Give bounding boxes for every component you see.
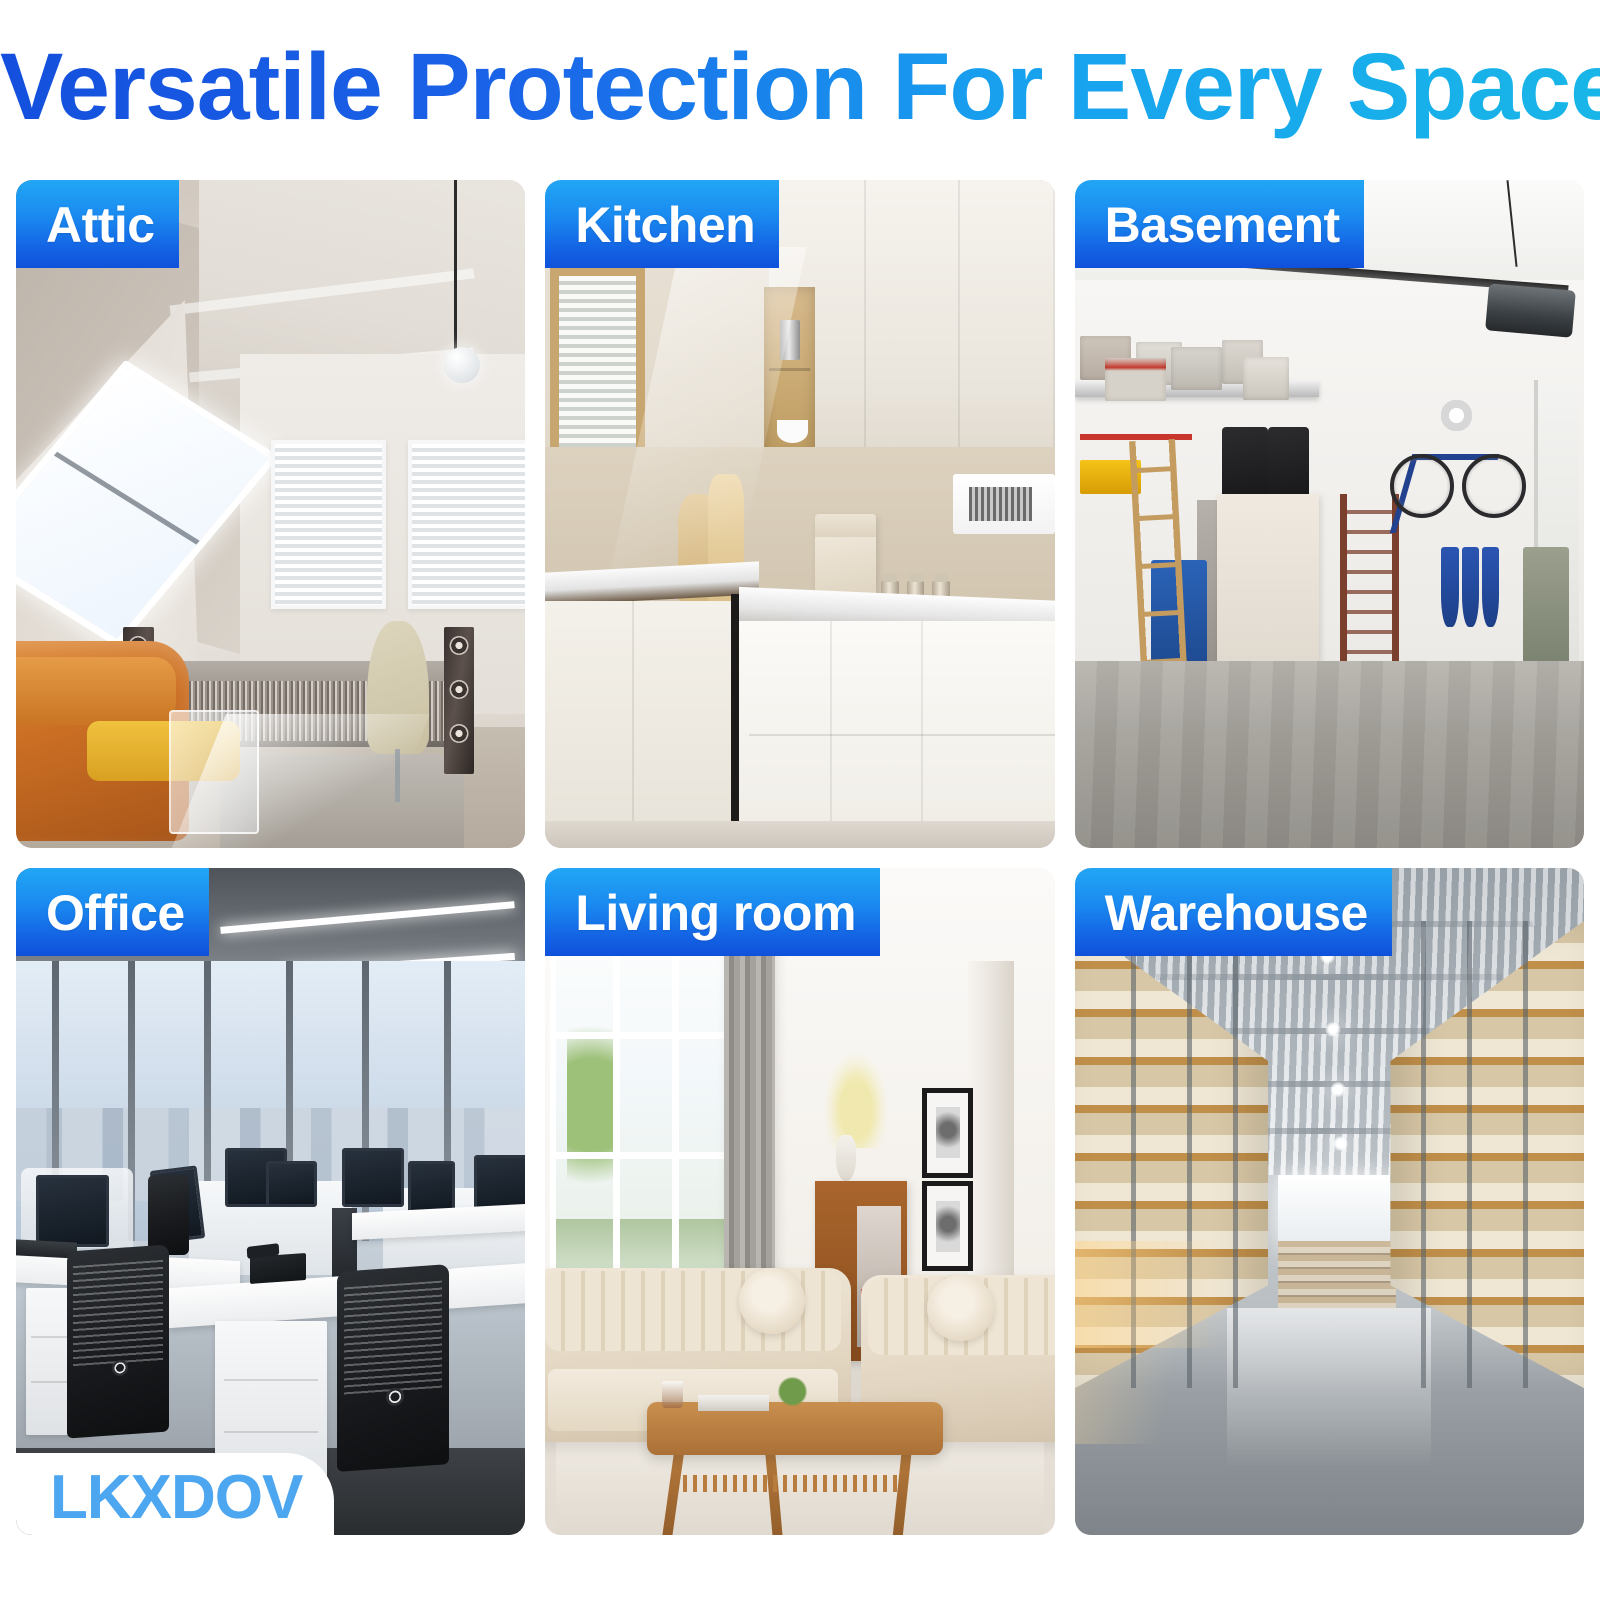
cell-label-basement: Basement <box>1075 180 1364 268</box>
warehouse-roof-beam <box>1156 974 1502 980</box>
office-monitor <box>36 1175 108 1248</box>
gallery-cell-warehouse[interactable]: Warehouse <box>1075 868 1584 1536</box>
living-room-window-mullion <box>613 920 620 1294</box>
warehouse-rack-upright <box>1233 921 1238 1388</box>
living-room-wall-art <box>922 1088 973 1178</box>
basement-concrete-floor <box>1075 661 1584 848</box>
attic-window-blind <box>271 440 386 608</box>
living-room-table-lower-shelf <box>683 1475 897 1492</box>
living-room-drinking-glass <box>662 1381 682 1408</box>
gallery-cell-office[interactable]: Office LKXDOV <box>16 868 525 1536</box>
warehouse-rack-upright <box>1467 921 1472 1388</box>
office-chair <box>67 1244 169 1438</box>
space-gallery-grid: Attic <box>16 180 1584 1535</box>
living-room-coffee-table <box>647 1402 942 1455</box>
basement-storage-bin <box>1105 358 1166 401</box>
basement-storage-bin <box>1243 357 1289 400</box>
basement-hanging-gear <box>1441 547 1458 627</box>
kitchen-scene <box>545 180 1054 848</box>
living-room-window-mullion <box>556 1152 739 1159</box>
basement-storage-bin <box>1171 347 1222 390</box>
attic-pendant-lamp <box>444 347 480 383</box>
cell-label-attic: Attic <box>16 180 179 268</box>
kitchen-bowl <box>777 420 808 443</box>
living-room-window-mullion <box>556 1032 739 1039</box>
living-room-round-pillow <box>927 1275 993 1341</box>
office-monitor <box>342 1148 404 1207</box>
gallery-cell-attic[interactable]: Attic <box>16 180 525 848</box>
cell-label-kitchen: Kitchen <box>545 180 779 268</box>
living-room-potted-plant <box>775 1375 811 1408</box>
kitchen-corner-post <box>731 594 739 848</box>
office-chair-adjust-knob <box>112 1359 128 1376</box>
warehouse-ceiling-light <box>1332 1135 1349 1152</box>
warehouse-scene <box>1075 868 1584 1536</box>
basement-hose-reel <box>1441 400 1472 431</box>
basement-step-stool <box>1523 547 1569 667</box>
living-room-wall-art <box>922 1181 973 1271</box>
living-room-window <box>550 914 745 1300</box>
basement-bicycle-wheel <box>1462 454 1526 518</box>
attic-pendant-wire <box>454 180 457 354</box>
warehouse-roof-beam <box>1243 1128 1416 1134</box>
warehouse-ceiling-light <box>1329 1081 1346 1098</box>
warehouse-rack-upright <box>1421 921 1426 1388</box>
office-chair-mesh-back <box>73 1260 163 1367</box>
living-room-table-books <box>698 1395 769 1411</box>
kitchen-range-hood <box>953 474 1055 534</box>
basement-hanging-gear <box>1462 547 1479 627</box>
basement-hanging-gear <box>1482 547 1499 627</box>
warehouse-aisle-glow <box>1075 1241 1228 1348</box>
living-room-curtain <box>724 894 775 1308</box>
office-chair-adjust-knob <box>386 1387 404 1406</box>
living-room-flower-arrangement <box>825 1054 886 1147</box>
office-chair <box>148 1175 189 1255</box>
kitchen-drawer-seam <box>749 734 1055 736</box>
office-scene <box>16 868 525 1536</box>
basement-wall-rail <box>1080 434 1192 440</box>
warehouse-back-window <box>1278 1175 1390 1248</box>
office-desk-phone <box>250 1253 306 1284</box>
basement-hand-truck <box>1340 494 1400 681</box>
attic-window-blind <box>408 440 525 608</box>
kitchen-floor <box>545 821 1054 848</box>
warehouse-ceiling-light <box>1324 1021 1341 1038</box>
cell-label-warehouse: Warehouse <box>1075 868 1392 956</box>
living-room-vase <box>836 1135 856 1182</box>
living-room-scene <box>545 868 1054 1536</box>
basement-garage-door-opener <box>1485 283 1575 337</box>
gallery-cell-kitchen[interactable]: Kitchen <box>545 180 1054 848</box>
warehouse-rack-upright <box>1523 921 1528 1388</box>
attic-scene <box>16 180 525 848</box>
attic-floor-speaker <box>444 627 475 774</box>
living-room-column <box>968 961 1014 1308</box>
office-chair-mesh-back <box>344 1281 443 1396</box>
office-monitor <box>266 1161 318 1207</box>
cell-label-living-room: Living room <box>545 868 880 956</box>
gallery-cell-living-room[interactable]: Living room <box>545 868 1054 1536</box>
brand-logo: LKXDOV <box>50 1467 302 1529</box>
living-room-round-pillow <box>739 1268 805 1334</box>
gallery-cell-basement[interactable]: Basement <box>1075 180 1584 848</box>
basement-bicycle-wheel <box>1390 454 1454 518</box>
office-monitor <box>408 1161 455 1214</box>
office-chair <box>337 1264 449 1472</box>
living-room-window-mullion <box>672 920 679 1294</box>
page-title: Versatile Protection For Every Space <box>0 34 1600 140</box>
basement-scene <box>1075 180 1584 848</box>
cell-label-office: Office <box>16 868 209 956</box>
living-room-window-tree <box>567 1017 615 1211</box>
